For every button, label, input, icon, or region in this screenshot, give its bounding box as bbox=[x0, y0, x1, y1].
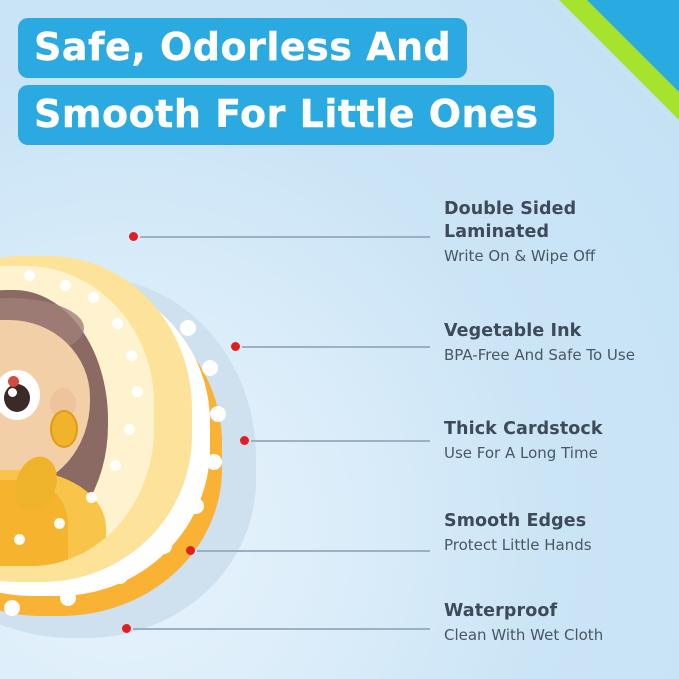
edge-scallop bbox=[210, 406, 226, 422]
feature-vegetable-ink: Vegetable Ink BPA-Free And Safe To Use bbox=[444, 320, 674, 366]
callout-dot-2 bbox=[231, 342, 240, 351]
feature-subtitle: Protect Little Hands bbox=[444, 535, 674, 556]
card-dot bbox=[86, 492, 97, 503]
feature-smooth-edges: Smooth Edges Protect Little Hands bbox=[444, 510, 674, 556]
layer-printed-face-card bbox=[0, 266, 154, 566]
callout-dot-5 bbox=[122, 624, 131, 633]
callout-line-3 bbox=[251, 440, 430, 442]
headline-line-1: Safe, Odorless And bbox=[18, 18, 467, 78]
product-illustration bbox=[0, 250, 310, 670]
feature-subtitle: BPA-Free And Safe To Use bbox=[444, 345, 674, 366]
edge-scallop bbox=[188, 498, 204, 514]
edge-scallop bbox=[112, 568, 128, 584]
pupil-right bbox=[4, 384, 30, 412]
product-feature-infographic: Safe, Odorless And Smooth For Little One… bbox=[0, 0, 679, 679]
callout-dot-3 bbox=[240, 436, 249, 445]
feature-waterproof: Waterproof Clean With Wet Cloth bbox=[444, 600, 674, 646]
feature-title: Smooth Edges bbox=[444, 510, 674, 533]
card-dot bbox=[14, 534, 25, 545]
callout-dot-1 bbox=[129, 232, 138, 241]
card-dot bbox=[60, 280, 71, 291]
feature-subtitle: Write On & Wipe Off bbox=[444, 246, 674, 267]
headline-line-2: Smooth For Little Ones bbox=[18, 85, 554, 145]
edge-scallop bbox=[60, 590, 76, 606]
pupil-highlight-right bbox=[8, 388, 17, 397]
page-title: Safe, Odorless And Smooth For Little One… bbox=[18, 18, 578, 152]
feature-double-sided-laminated: Double Sided Laminated Write On & Wipe O… bbox=[444, 198, 674, 267]
feature-title: Double Sided Laminated bbox=[444, 198, 674, 244]
feature-subtitle: Use For A Long Time bbox=[444, 443, 674, 464]
edge-scallop bbox=[202, 360, 218, 376]
card-dot bbox=[124, 424, 135, 435]
bindi-icon bbox=[8, 376, 19, 387]
card-dot bbox=[24, 270, 35, 281]
card-dot bbox=[54, 518, 65, 529]
callout-line-1 bbox=[140, 236, 430, 238]
feature-thick-cardstock: Thick Cardstock Use For A Long Time bbox=[444, 418, 674, 464]
feature-subtitle: Clean With Wet Cloth bbox=[444, 625, 674, 646]
feature-title: Vegetable Ink bbox=[444, 320, 674, 343]
feature-title: Waterproof bbox=[444, 600, 674, 623]
callout-dot-4 bbox=[186, 546, 195, 555]
callout-line-2 bbox=[242, 346, 430, 348]
card-dot bbox=[88, 292, 99, 303]
feature-title-line-1: Double Sided bbox=[444, 199, 576, 219]
feature-title-line-2: Laminated bbox=[444, 222, 549, 242]
card-dot bbox=[112, 318, 123, 329]
earring-icon bbox=[50, 410, 78, 448]
card-dot bbox=[132, 386, 143, 397]
edge-scallop bbox=[156, 538, 172, 554]
edge-scallop bbox=[180, 320, 196, 336]
character-illustration bbox=[0, 284, 144, 566]
edge-scallop bbox=[4, 600, 20, 616]
edge-scallop bbox=[206, 454, 222, 470]
callout-line-4 bbox=[197, 550, 430, 552]
card-dot bbox=[110, 460, 121, 471]
card-dot bbox=[126, 350, 137, 361]
feature-title: Thick Cardstock bbox=[444, 418, 674, 441]
callout-line-5 bbox=[133, 628, 430, 630]
